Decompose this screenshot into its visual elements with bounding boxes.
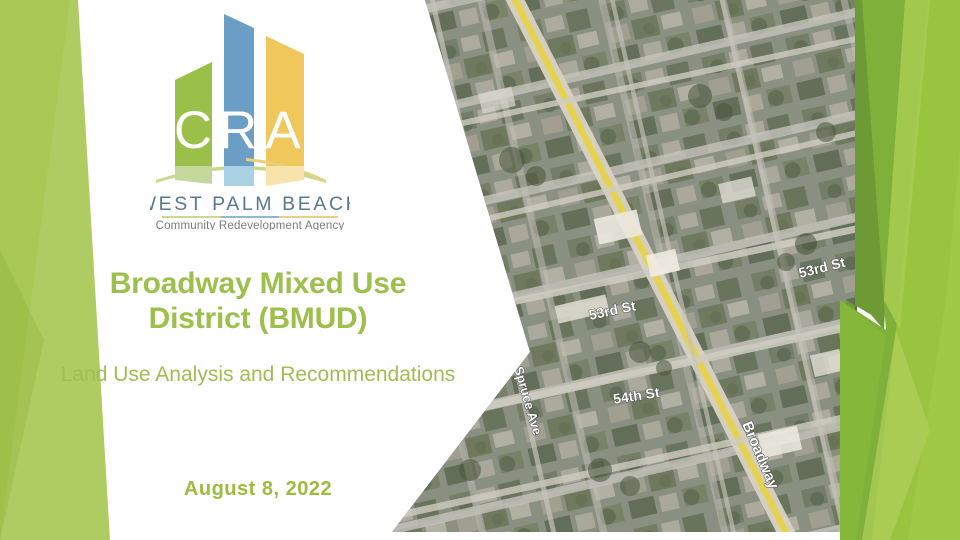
title-block: Broadway Mixed Use District (BMUD) Land … [28, 266, 488, 387]
logo-acronym: C R A [174, 101, 303, 160]
logo-letter-a: A [265, 101, 302, 160]
logo-letter-c: C [174, 101, 214, 160]
page-title: Broadway Mixed Use District (BMUD) [28, 266, 488, 336]
presentation-date: August 8, 2022 [28, 478, 488, 501]
logo-wordmark: WEST PALM BEACH [150, 193, 350, 215]
logo-base-green [175, 166, 212, 184]
logo-base-yellow [266, 166, 304, 186]
logo-letter-r: R [219, 101, 259, 160]
cra-logo: C R A WEST PALM BEACH Community Redevelo… [150, 8, 350, 230]
presentation-slide: 53rd St 53rd St 54th St Spruce Ave Broad… [0, 0, 960, 540]
page-subtitle: Land Use Analysis and Recommendations [28, 362, 488, 387]
logo-tagline: Community Redevelopment Agency [156, 220, 345, 230]
page-title-line-1: Broadway Mixed Use [28, 266, 488, 301]
page-title-line-2: District (BMUD) [28, 301, 488, 336]
logo-base-blue [224, 166, 254, 186]
